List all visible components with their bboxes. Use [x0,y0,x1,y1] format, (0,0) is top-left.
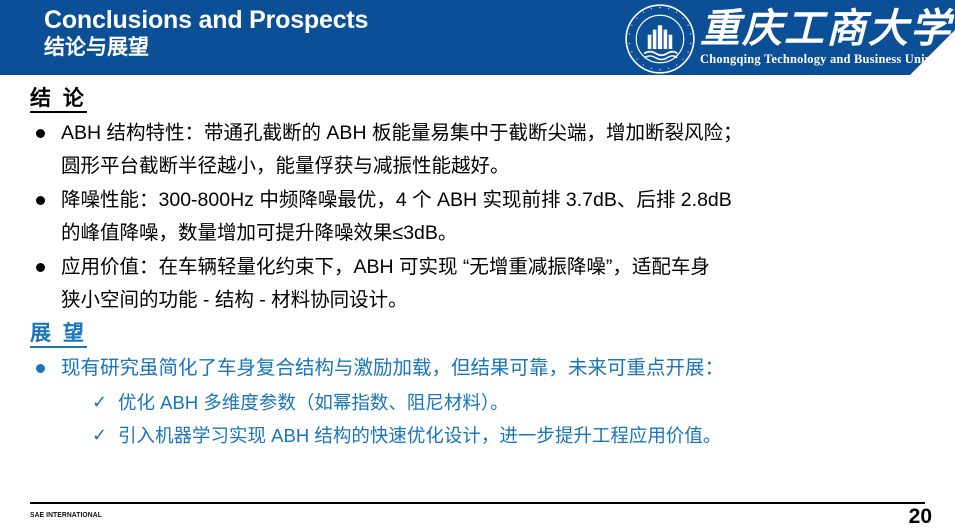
list-item: 现有研究虽简化了车身复合结构与激励加载，但结果可靠，未来可重点开展： [30,352,939,385]
section-heading-prospects: 展 望 [30,321,87,348]
section-conclusions: 结 论 ABH 结构特性：带通孔截断的 ABH 板能量易集中于截断尖端，增加断裂… [30,86,939,317]
university-name-group: 重庆工商大学 Chongqing Technology and Business… [700,3,954,67]
slide-title-chinese: 结论与展望 [44,35,368,60]
prospects-check-list: ✓ 优化 ABH 多维度参数（如幂指数、阻尼材料）。 ✓ 引入机器学习实现 AB… [30,386,939,452]
university-name-english: Chongqing Technology and Business Univer… [700,52,954,67]
slide-content: 结 论 ABH 结构特性：带通孔截断的 ABH 板能量易集中于截断尖端，增加断裂… [0,78,955,493]
slide-page-number: 20 [909,505,932,529]
check-mark-icon: ✓ [92,419,107,452]
list-item: 应用价值：在车辆轻量化约束下，ABH 可实现 “无增重减振降噪”，适配车身 狭小… [30,251,939,317]
bullet-dot-icon [36,129,45,138]
footer-organization: SAE INTERNATIONAL [30,510,102,519]
university-name-chinese-icon: 重庆工商大学 [700,5,954,53]
bullet-dot-icon [36,196,45,205]
bullet-line: ABH 结构特性：带通孔截断的 ABH 板能量易集中于截断尖端，增加断裂风险； [61,117,939,150]
slide-title-group: Conclusions and Prospects 结论与展望 [44,5,368,60]
bullet-line: 应用价值：在车辆轻量化约束下，ABH 可实现 “无增重减振降噪”，适配车身 [61,251,939,284]
prospects-bullet-list: 现有研究虽简化了车身复合结构与激励加载，但结果可靠，未来可重点开展： [30,352,939,385]
check-mark-icon: ✓ [92,386,107,419]
slide-title-english: Conclusions and Prospects [44,5,368,36]
bullet-line: 现有研究虽简化了车身复合结构与激励加载，但结果可靠，未来可重点开展： [61,352,939,385]
bullet-line: 圆形平台截断半径越小，能量俘获与减振性能越好。 [61,150,939,183]
university-logo: 重庆工商大学 Chongqing Technology and Business… [624,3,954,75]
section-heading-conclusions: 结 论 [30,86,87,113]
section-prospects: 展 望 现有研究虽简化了车身复合结构与激励加载，但结果可靠，未来可重点开展： ✓… [30,321,939,452]
conclusions-bullet-list: ABH 结构特性：带通孔截断的 ABH 板能量易集中于截断尖端，增加断裂风险； … [30,117,939,317]
footer-divider [30,502,925,504]
university-seal-icon [624,3,696,75]
list-item: ABH 结构特性：带通孔截断的 ABH 板能量易集中于截断尖端，增加断裂风险； … [30,117,939,183]
list-item: ✓ 优化 ABH 多维度参数（如幂指数、阻尼材料）。 [30,386,939,419]
bullet-dot-icon [36,263,45,272]
bullet-line: 降噪性能：300-800Hz 中频降噪最优，4 个 ABH 实现前排 3.7dB… [61,184,939,217]
list-item: 降噪性能：300-800Hz 中频降噪最优，4 个 ABH 实现前排 3.7dB… [30,184,939,250]
svg-text:重庆工商大学: 重庆工商大学 [700,6,954,51]
bullet-dot-icon [36,364,45,373]
list-item: ✓ 引入机器学习实现 ABH 结构的快速优化设计，进一步提升工程应用价值。 [30,419,939,452]
check-line: 引入机器学习实现 ABH 结构的快速优化设计，进一步提升工程应用价值。 [118,425,721,446]
bullet-line: 的峰值降噪，数量增加可提升降噪效果≤3dB。 [61,217,939,250]
slide-header-band: Conclusions and Prospects 结论与展望 [0,0,955,75]
bullet-line: 狭小空间的功能 - 结构 - 材料协同设计。 [61,284,939,317]
check-line: 优化 ABH 多维度参数（如幂指数、阻尼材料）。 [118,392,509,413]
